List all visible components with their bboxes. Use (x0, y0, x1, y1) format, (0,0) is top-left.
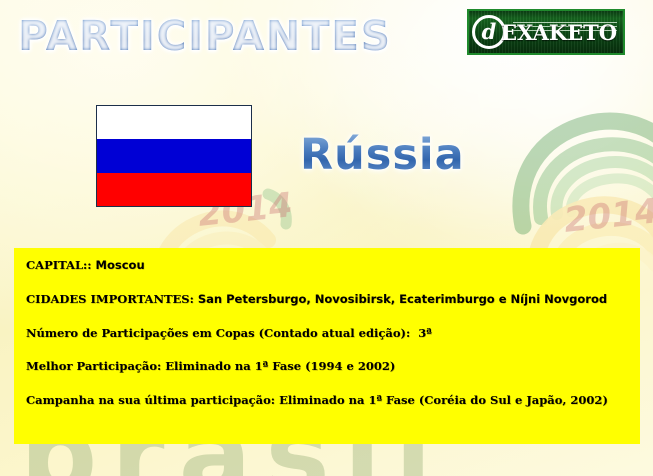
info-value-appearances: 3ª (418, 326, 432, 340)
flag-stripe-white (97, 106, 251, 139)
info-sep-capital: : (87, 258, 95, 272)
info-row-appearances: Número de Participações em Copas (Contad… (26, 327, 630, 341)
russia-flag (96, 105, 252, 207)
page-title: PARTICIPANTES (18, 12, 392, 60)
info-value-cities: San Petersburgo, Novosibirsk, Ecaterimbu… (198, 292, 607, 306)
country-info-panel: CAPITAL:: Moscou CIDADES IMPORTANTES: Sa… (14, 248, 640, 444)
dexaketo-logo: d EXAKETO (467, 9, 625, 55)
info-sep-appearances (410, 326, 418, 340)
info-row-cities: CIDADES IMPORTANTES: San Petersburgo, No… (26, 293, 630, 307)
info-label-capital: CAPITAL: (26, 258, 87, 272)
info-row-best-result: Melhor Participação: Eliminado na 1ª Fas… (26, 360, 630, 374)
presentation-slide: 2014 2014 brasil PARTICIPANTES d EXAKETO… (0, 0, 653, 476)
year-2014-watermark-right: 2014 (563, 191, 653, 241)
info-row-last-campaign: Campanha na sua última participação: Eli… (26, 394, 630, 408)
logo-mark-letter: d (482, 21, 497, 42)
info-label-cities: CIDADES IMPORTANTES: (26, 292, 194, 306)
flag-stripe-blue (97, 139, 251, 172)
info-label-best-result: Melhor Participação: (26, 359, 161, 373)
info-value-last-campaign: Eliminado na 1ª Fase (Coréia do Sul e Ja… (279, 393, 608, 407)
info-label-last-campaign: Campanha na sua última participação: (26, 393, 275, 407)
info-row-capital: CAPITAL:: Moscou (26, 259, 630, 273)
country-name: Rússia (300, 130, 465, 180)
logo-wordmark: EXAKETO (501, 20, 617, 45)
info-value-capital: Moscou (96, 258, 145, 272)
flag-stripe-red (97, 173, 251, 206)
info-label-appearances: Número de Participações em Copas (Contad… (26, 326, 410, 340)
info-value-best-result: Eliminado na 1ª Fase (1994 e 2002) (165, 359, 395, 373)
